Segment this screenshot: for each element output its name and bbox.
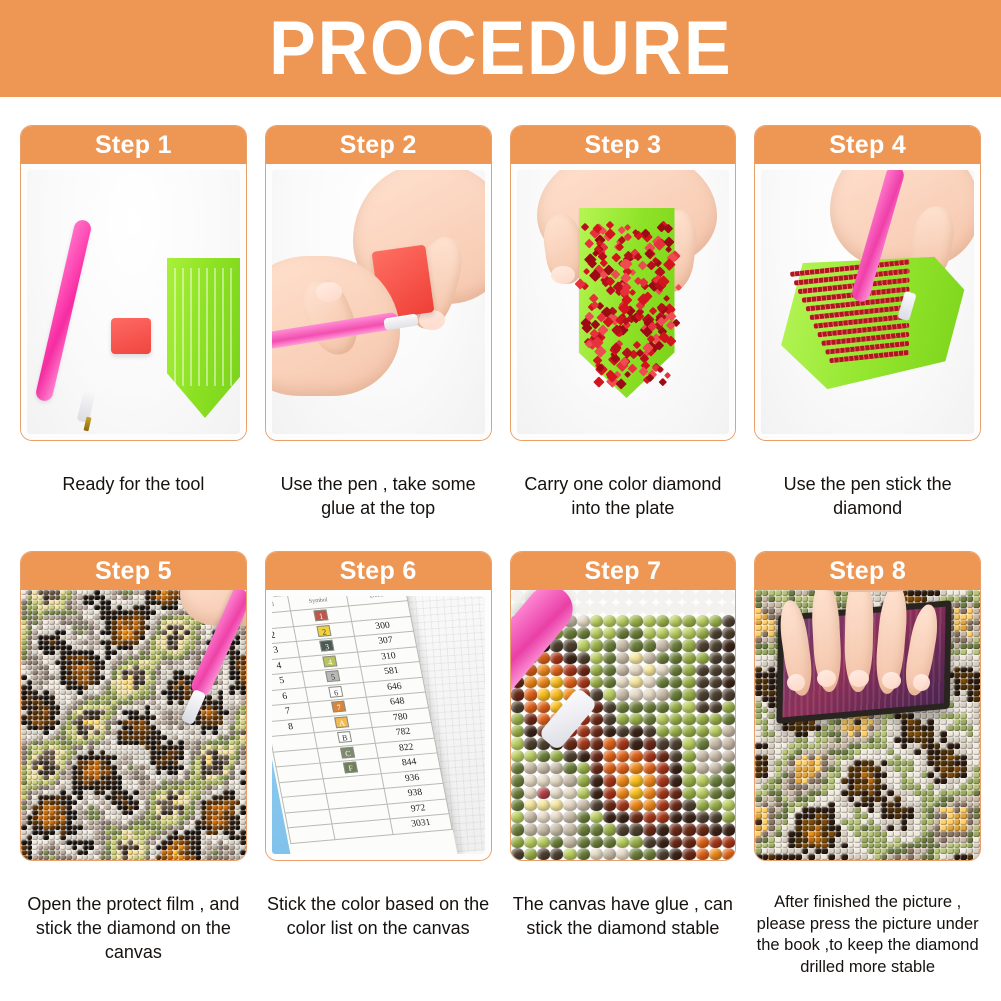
diamond-drill <box>768 854 775 860</box>
diamond-drill <box>861 790 868 796</box>
diamond-drill <box>821 825 828 831</box>
diamond-bead <box>696 750 709 762</box>
diamond-bead <box>682 701 695 713</box>
diamond-drill <box>967 614 974 620</box>
diamond-drill <box>111 855 117 860</box>
diamond-drill <box>663 295 670 302</box>
diamond-drill <box>775 796 782 802</box>
diamond-drill <box>755 743 762 749</box>
diamond-bead <box>669 701 682 713</box>
diamond-drill <box>861 837 868 843</box>
diamond-drill <box>947 784 954 790</box>
diamond-drill <box>755 796 762 802</box>
diamond-drill <box>973 661 980 667</box>
diamond-drill <box>868 831 875 837</box>
diamond-bead <box>656 627 669 639</box>
diamond-drill <box>755 854 762 860</box>
diamond-bead <box>577 848 590 860</box>
diamond-drill <box>821 790 828 796</box>
diamond-drill <box>921 790 928 796</box>
diamond-bead <box>577 811 590 823</box>
diamond-bead <box>722 639 735 651</box>
diamond-drill <box>762 825 769 831</box>
diamond-bead <box>696 848 709 860</box>
diamond-drill <box>960 737 967 743</box>
diamond-bead <box>643 639 656 651</box>
diamond-bead <box>603 762 616 774</box>
diamond-drill <box>835 737 842 743</box>
diamond-bead <box>669 639 682 651</box>
diamond-drill <box>815 831 822 837</box>
diamond-drill <box>914 749 921 755</box>
diamond-bead <box>616 701 629 713</box>
diamond-drill <box>768 690 775 696</box>
diamond-drill <box>954 696 961 702</box>
diamond-drill <box>755 831 762 837</box>
diamond-bead <box>511 848 524 860</box>
diamond-drill <box>934 737 941 743</box>
diamond-drill <box>49 855 55 860</box>
diamond-bead <box>537 676 550 688</box>
diamond-drill <box>967 837 974 843</box>
step-caption-4: Use the pen stick the diamond <box>754 472 981 520</box>
diamond-bead <box>643 676 656 688</box>
diamond-bead <box>577 627 590 639</box>
diamond-drill <box>914 837 921 843</box>
diamond-drill <box>775 749 782 755</box>
hands-icon <box>783 590 953 706</box>
diamond-drill <box>927 796 934 802</box>
diamond-drill <box>788 784 795 790</box>
diamond-bead <box>669 823 682 835</box>
diamond-bead <box>603 737 616 749</box>
diamond-drill <box>828 749 835 755</box>
diamond-drill <box>788 825 795 831</box>
diamond-bead <box>616 823 629 835</box>
diamond-drill <box>229 855 235 860</box>
diamond-drill <box>907 837 914 843</box>
diamond-drill <box>960 743 967 749</box>
diamond-bead <box>537 688 550 700</box>
diamond-bead <box>709 664 722 676</box>
diamond-bead <box>524 787 537 799</box>
diamond-bead <box>577 823 590 835</box>
diamond-bead <box>550 811 563 823</box>
diamond-drill <box>815 837 822 843</box>
diamond-bead <box>511 688 524 700</box>
diamond-drill <box>66 855 72 860</box>
diamond-drill <box>868 743 875 749</box>
diamond-drill <box>907 854 914 860</box>
diamond-bead <box>709 627 722 639</box>
diamond-bead <box>629 762 642 774</box>
diamond-bead <box>563 639 576 651</box>
diamond-drill <box>802 784 809 790</box>
step-card-2[interactable]: Step 2 <box>265 125 492 441</box>
diamond-bead <box>629 823 642 835</box>
step-cell-3: Step 3 Carry one color diamond into the … <box>510 125 737 520</box>
diamond-drill <box>802 790 809 796</box>
diamond-bead <box>722 737 735 749</box>
diamond-bead <box>722 799 735 811</box>
diamond-drill <box>782 743 789 749</box>
diamond-drill <box>967 796 974 802</box>
diamond-drill <box>960 784 967 790</box>
diamond-drill <box>901 784 908 790</box>
diamond-drill <box>808 796 815 802</box>
diamond-drill <box>835 796 842 802</box>
diamond-bead <box>563 750 576 762</box>
diamond-drill <box>921 784 928 790</box>
step-cell-8: Step 8 After finished the picture , plea… <box>754 551 981 978</box>
diamond-drill <box>802 743 809 749</box>
diamond-bead <box>696 823 709 835</box>
diamond-drill <box>960 749 967 755</box>
symbol-swatch: B <box>337 731 352 743</box>
diamond-bead <box>511 762 524 774</box>
diamond-drill <box>894 749 901 755</box>
step-card-8[interactable]: Step 8 <box>754 551 981 861</box>
diamond-drill <box>967 749 974 755</box>
diamond-bead <box>682 836 695 848</box>
diamond-drill <box>768 737 775 743</box>
diamond-bead <box>629 713 642 725</box>
diamond-drill <box>954 649 961 655</box>
diamond-drill <box>795 854 802 860</box>
diamond-drill <box>808 837 815 843</box>
diamond-bead <box>616 627 629 639</box>
diamond-drill <box>775 784 782 790</box>
diamond-drill <box>762 837 769 843</box>
step-caption-6: Stick the color based on the color list … <box>265 892 492 940</box>
diamond-drill <box>921 737 928 743</box>
diamond-bead <box>550 676 563 688</box>
diamond-drill <box>762 831 769 837</box>
symbol-swatch: 6 <box>328 686 343 698</box>
diamond-drill <box>585 239 594 248</box>
diamond-drill <box>841 831 848 837</box>
diamond-bead <box>696 590 709 602</box>
diamond-bead <box>643 737 656 749</box>
diamond-drill <box>835 837 842 843</box>
diamond-bead <box>629 639 642 651</box>
diamond-drill <box>914 784 921 790</box>
diamond-bead <box>616 664 629 676</box>
diamond-drill <box>960 696 967 702</box>
diamond-bead <box>563 799 576 811</box>
diamond-bead <box>669 774 682 786</box>
diamond-drill <box>914 825 921 831</box>
diamond-drill <box>874 837 881 843</box>
page-banner: PROCEDURE <box>0 0 1001 97</box>
diamond-bead <box>682 627 695 639</box>
diamond-drill <box>960 661 967 667</box>
diamond-drill <box>887 737 894 743</box>
diamond-drill <box>940 749 947 755</box>
diamond-drill <box>782 737 789 743</box>
cell-serial <box>288 824 335 843</box>
diamond-drill <box>887 784 894 790</box>
diamond-drill <box>927 749 934 755</box>
diamond-drill <box>828 796 835 802</box>
diamond-drill <box>762 608 769 614</box>
diamond-bead <box>709 639 722 651</box>
diamond-drill <box>755 690 762 696</box>
diamond-drill <box>973 831 980 837</box>
diamond-bead <box>603 615 616 627</box>
diamond-bead <box>709 823 722 835</box>
diamond-bead <box>643 688 656 700</box>
diamond-bead <box>629 590 642 602</box>
diamond-drill <box>914 737 921 743</box>
step-header-4: Step 4 <box>755 126 980 164</box>
diamond-drill <box>808 825 815 831</box>
diamond-drill <box>808 749 815 755</box>
diamond-drill <box>967 825 974 831</box>
diamond-drill <box>887 796 894 802</box>
diamond-drill <box>921 749 928 755</box>
diamond-bead <box>524 725 537 737</box>
diamond-bead <box>682 676 695 688</box>
diamond-bead <box>682 639 695 651</box>
diamond-bead <box>616 737 629 749</box>
diamond-drill <box>762 602 769 608</box>
diamond-drill <box>874 790 881 796</box>
diamond-drill <box>663 236 674 247</box>
step-card-5[interactable]: Step 5 <box>20 551 247 861</box>
diamond-bead <box>603 811 616 823</box>
glue-pad-icon <box>111 318 151 354</box>
diamond-drill <box>947 743 954 749</box>
step-card-3[interactable]: Step 3 <box>510 125 737 441</box>
diamond-bead <box>550 774 563 786</box>
diamond-drill <box>914 743 921 749</box>
diamond-drill <box>212 855 218 860</box>
diamond-drill <box>788 737 795 743</box>
diamond-bead <box>550 652 563 664</box>
diamond-bead <box>550 750 563 762</box>
diamond-drill <box>122 855 128 860</box>
diamond-bead <box>656 823 669 835</box>
diamond-drill <box>762 696 769 702</box>
diamond-bead <box>709 762 722 774</box>
diamond-drill <box>967 608 974 614</box>
diamond-bead <box>629 750 642 762</box>
diamond-bead <box>577 737 590 749</box>
diamond-drill <box>914 854 921 860</box>
diamond-drill <box>907 749 914 755</box>
diamond-drill <box>921 825 928 831</box>
diamond-bead <box>603 713 616 725</box>
palm <box>779 590 955 592</box>
step-caption-5: Open the protect film , and stick the di… <box>20 892 247 964</box>
step-photo-8 <box>755 590 980 860</box>
step-header-8: Step 8 <box>755 552 980 590</box>
diamond-drill <box>934 743 941 749</box>
diamond-drill <box>821 854 828 860</box>
diamond-bead <box>722 688 735 700</box>
diamond-drill <box>755 837 762 843</box>
diamond-bead <box>603 848 616 860</box>
diamond-bead <box>524 737 537 749</box>
diamond-bead <box>656 701 669 713</box>
diamond-bead <box>656 750 669 762</box>
diamond-drill <box>940 831 947 837</box>
diamond-bead <box>709 676 722 688</box>
diamond-bead <box>696 836 709 848</box>
diamond-drill <box>940 790 947 796</box>
diamond-drill <box>848 825 855 831</box>
diamond-drill <box>762 702 769 708</box>
diamond-drill <box>927 854 934 860</box>
step-card-4[interactable]: Step 4 <box>754 125 981 441</box>
diamond-bead <box>603 639 616 651</box>
diamond-drill <box>973 837 980 843</box>
step-header-7: Step 7 <box>511 552 736 590</box>
diamond-bead <box>722 627 735 639</box>
diamond-drill <box>954 608 961 614</box>
diamond-drill <box>782 784 789 790</box>
diamond-bead <box>696 639 709 651</box>
diamond-bead <box>550 787 563 799</box>
diamond-bead <box>656 602 669 614</box>
diamond-drill <box>947 796 954 802</box>
diamond-bead <box>616 774 629 786</box>
diamond-drill <box>973 696 980 702</box>
diamond-drill <box>960 608 967 614</box>
diamond-drill <box>868 737 875 743</box>
diamond-bead <box>590 750 603 762</box>
diamond-bead <box>669 811 682 823</box>
diamond-drill <box>954 784 961 790</box>
diamond-drill <box>973 614 980 620</box>
diamond-drill <box>973 796 980 802</box>
diamond-drill <box>973 702 980 708</box>
symbol-swatch: 5 <box>325 671 340 683</box>
diamond-bead <box>511 811 524 823</box>
diamond-bead <box>629 627 642 639</box>
diamond-drill <box>874 796 881 802</box>
diamond-drill <box>788 796 795 802</box>
steps-row-bottom: Step 5 Open the protect film , and stick… <box>0 551 1001 978</box>
diamond-drill <box>762 743 769 749</box>
diamond-bead <box>511 701 524 713</box>
diamond-drill <box>960 602 967 608</box>
diamond-drill <box>907 737 914 743</box>
diamond-drill <box>802 837 809 843</box>
diamond-drill <box>881 825 888 831</box>
diamond-bead <box>709 590 722 602</box>
diamond-drill <box>921 854 928 860</box>
step-header-3: Step 3 <box>511 126 736 164</box>
diamond-bead <box>709 615 722 627</box>
diamond-drill <box>954 655 961 661</box>
diamond-drill <box>954 796 961 802</box>
diamond-bead <box>616 750 629 762</box>
diamond-bead <box>616 652 629 664</box>
diamond-bead <box>643 799 656 811</box>
diamond-bead <box>709 713 722 725</box>
diamond-bead <box>669 713 682 725</box>
diamond-bead <box>709 848 722 860</box>
step-photo-5 <box>21 590 246 860</box>
step-cell-4: Step 4 Use the pen stick the diamond <box>754 125 981 520</box>
diamond-drill <box>755 649 762 655</box>
diamond-drill <box>808 831 815 837</box>
diamond-drill <box>848 831 855 837</box>
diamond-bead <box>629 602 642 614</box>
diamond-drill <box>921 743 928 749</box>
diamond-bead <box>603 590 616 602</box>
diamond-drill <box>894 784 901 790</box>
diamond-bead <box>603 701 616 713</box>
diamond-drill <box>967 702 974 708</box>
diamond-drill <box>954 790 961 796</box>
diamond-drill <box>762 614 769 620</box>
diamond-bead <box>511 590 524 602</box>
diamond-bead <box>563 811 576 823</box>
symbol-swatch: 3 <box>319 640 334 652</box>
step-card-1[interactable]: Step 1 <box>20 125 247 441</box>
diamond-bead <box>656 799 669 811</box>
diamond-bead <box>643 615 656 627</box>
diamond-drill <box>881 837 888 843</box>
diamond-drill <box>835 743 842 749</box>
diamond-bead <box>550 664 563 676</box>
step-card-7[interactable]: Step 7 <box>510 551 737 861</box>
diamond-drill <box>815 796 822 802</box>
diamond-drill <box>841 796 848 802</box>
diamond-drill <box>848 837 855 843</box>
symbol-swatch: F <box>343 762 358 774</box>
step-card-6[interactable]: Step 6 Serial Sy <box>265 551 492 861</box>
diamond-drill <box>934 837 941 843</box>
diamond-drill <box>802 749 809 755</box>
diamond-drill <box>815 825 822 831</box>
diamond-drill <box>907 831 914 837</box>
diamond-bead <box>590 848 603 860</box>
drill-tray-icon <box>167 258 240 418</box>
diamond-bead <box>616 762 629 774</box>
diamond-drill <box>973 825 980 831</box>
diamond-bead <box>629 676 642 688</box>
diamond-bead <box>709 811 722 823</box>
diamond-drill <box>821 796 828 802</box>
diamond-bead <box>550 836 563 848</box>
diamond-drill <box>973 743 980 749</box>
diamond-drill <box>854 790 861 796</box>
diamond-drill <box>815 790 822 796</box>
diamond-drill <box>874 743 881 749</box>
diamond-drill <box>659 378 667 386</box>
diamond-bead <box>709 652 722 664</box>
diamond-drill <box>762 649 769 655</box>
diamond-bead <box>603 627 616 639</box>
diamond-drill <box>960 702 967 708</box>
diamond-drill <box>782 749 789 755</box>
diamond-drill <box>973 749 980 755</box>
diamond-drill <box>947 837 954 843</box>
diamond-bead <box>722 811 735 823</box>
step-header-6: Step 6 <box>266 552 491 590</box>
diamond-bead <box>590 664 603 676</box>
diamond-bead <box>656 639 669 651</box>
step-photo-7 <box>511 590 736 860</box>
diamond-bead <box>524 774 537 786</box>
diamond-bead <box>537 750 550 762</box>
diamond-drill <box>881 743 888 749</box>
diamond-drill <box>973 690 980 696</box>
